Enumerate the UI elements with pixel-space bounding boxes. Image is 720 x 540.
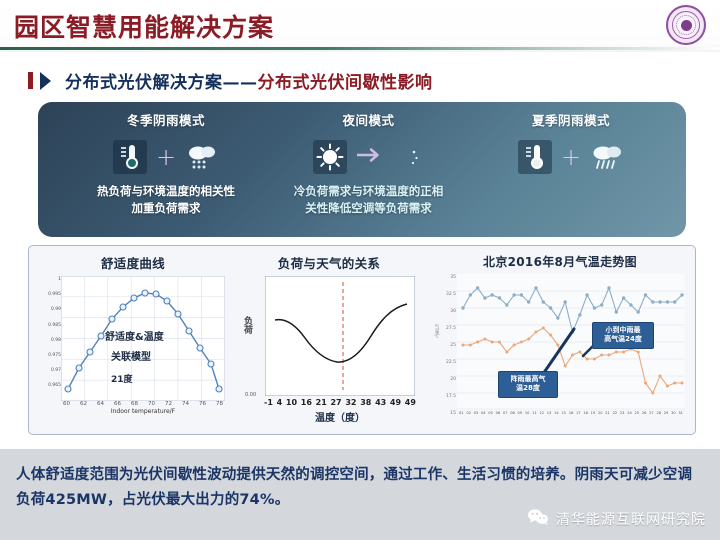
chart-xticks-beijing: 0102030405060708091011121314151617181920… [457,411,685,415]
snow-cloud-icon [185,140,219,174]
section-heading-part-a: 分布式光伏解决方案—— [65,73,258,93]
chart-title-load-weather: 负荷与天气的关系 [231,253,427,272]
scenario-column-summer: 夏季阴雨模式 + [466,102,676,237]
scenario-desc-winter: 热负荷与环境温度的相关性 加重负荷需求 [97,183,235,218]
scenario-title-winter: 冬季阴雨模式 [127,110,205,129]
chart-annotation-comfort-1: 舒适度&温度 [105,328,164,343]
chart-xticks-comfort: 60626466687072747678 [61,401,225,407]
scenario-desc-winter-line1: 热负荷与环境温度的相关性 [97,184,235,198]
tsinghua-university-seal-icon [666,5,706,45]
scenario-desc-night-line1: 冷负荷需求与环境温度的正相 [294,184,444,198]
chart-plot-comfort: 舒适度&温度 关联模型 21度 10.9950.990.9850.980.975… [61,276,225,401]
scenario-column-winter: 冬季阴雨模式 + [56,102,276,237]
scenario-title-night: 夜间模式 [342,110,394,129]
charts-container: 舒适度曲线 [28,245,696,435]
wechat-icon [527,508,549,530]
plus-icon: + [156,145,176,169]
section-heading-part-b: 分布式光伏间歇性影响 [258,73,433,93]
chart-callout-light-rain-line1: 小到中雨最 [606,326,641,334]
chart-ytick-load-weather-zero: 0.00 [245,392,256,398]
bullet-triangle-icon [40,72,51,90]
chart-ylabel-beijing: 气温/℃ [433,324,439,340]
chart-annotation-comfort-3: 21度 [111,372,133,385]
chart-annotation-comfort-2: 关联模型 [111,348,151,363]
scenario-icons-winter: + [113,135,219,179]
chart-xticks-load-weather: -14101621273238434949 [262,398,418,407]
scenario-panel: 冬季阴雨模式 + [38,102,686,237]
chart-load-weather: 负荷与天气的关系 负荷 0.00 -14101621273238434949 温… [231,246,427,436]
chart-comfort-curve: 舒适度曲线 [35,246,231,436]
section-heading: 分布式光伏解决方案——分布式光伏间歇性影响 [28,68,433,93]
chart-callout-light-rain-line2: 高气温24度 [604,335,642,343]
moon-stars-icon [391,140,425,174]
chart-plot-beijing: 小到中雨最 高气温24度 阵雨最高气 温28度 3532.53027.52522… [457,274,685,410]
chart-xlabel-comfort: Indoor temperature/F [61,408,225,415]
chart-callout-shower: 阵雨最高气 温28度 [498,371,558,398]
scenario-desc-night-line2: 关性降低空调等负荷需求 [305,201,432,215]
page-title: 园区智慧用能解决方案 [14,8,274,44]
chart-xlabel-load-weather: 温度（度） [265,409,415,424]
header-divider [0,47,720,50]
thermometer-cold-icon [113,140,147,174]
thermometer-hot-icon [518,140,552,174]
conclusion-banner: 人体舒适度范围为光伏间歇性波动提供天然的调控空间，通过工作、生活习惯的培养。阴雨… [0,449,720,540]
scenario-desc-night: 冷负荷需求与环境温度的正相 关性降低空调等负荷需求 [294,183,444,218]
scenario-icons-night [313,135,425,179]
scenario-title-summer: 夏季阴雨模式 [532,110,610,129]
brand-name: 清华能源互联网研究院 [556,509,706,529]
chart-callout-shower-line1: 阵雨最高气 [511,375,546,383]
conclusion-text: 人体舒适度范围为光伏间歇性波动提供天然的调控空间，通过工作、生活习惯的培养。阴雨… [16,463,704,514]
chart-ylabel-load-weather: 负荷 [241,316,254,334]
scenario-column-night: 夜间模式 [276,102,461,237]
chart-callout-shower-line2: 温28度 [516,384,540,392]
plus-icon: + [561,145,581,169]
page-header: 园区智慧用能解决方案 [0,0,720,52]
chart-yticks-comfort: 10.9950.990.9850.980.9750.970.965 [37,272,61,402]
scenario-desc-winter-line2: 加重负荷需求 [132,201,201,215]
chart-beijing-temperature: 北京2016年8月气温走势图 [429,246,691,436]
chart-title-comfort: 舒适度曲线 [35,253,231,272]
bullet-bar-icon [28,72,33,89]
sun-icon [313,140,347,174]
scenario-icons-summer: + [518,135,624,179]
brand-watermark: 清华能源互联网研究院 [527,508,706,530]
arrow-right-icon [356,147,382,167]
chart-plot-load-weather: 负荷 0.00 [265,276,415,396]
chart-callout-light-rain: 小到中雨最 高气温24度 [592,322,654,349]
chart-title-beijing: 北京2016年8月气温走势图 [429,253,691,270]
rain-cloud-icon [590,140,624,174]
